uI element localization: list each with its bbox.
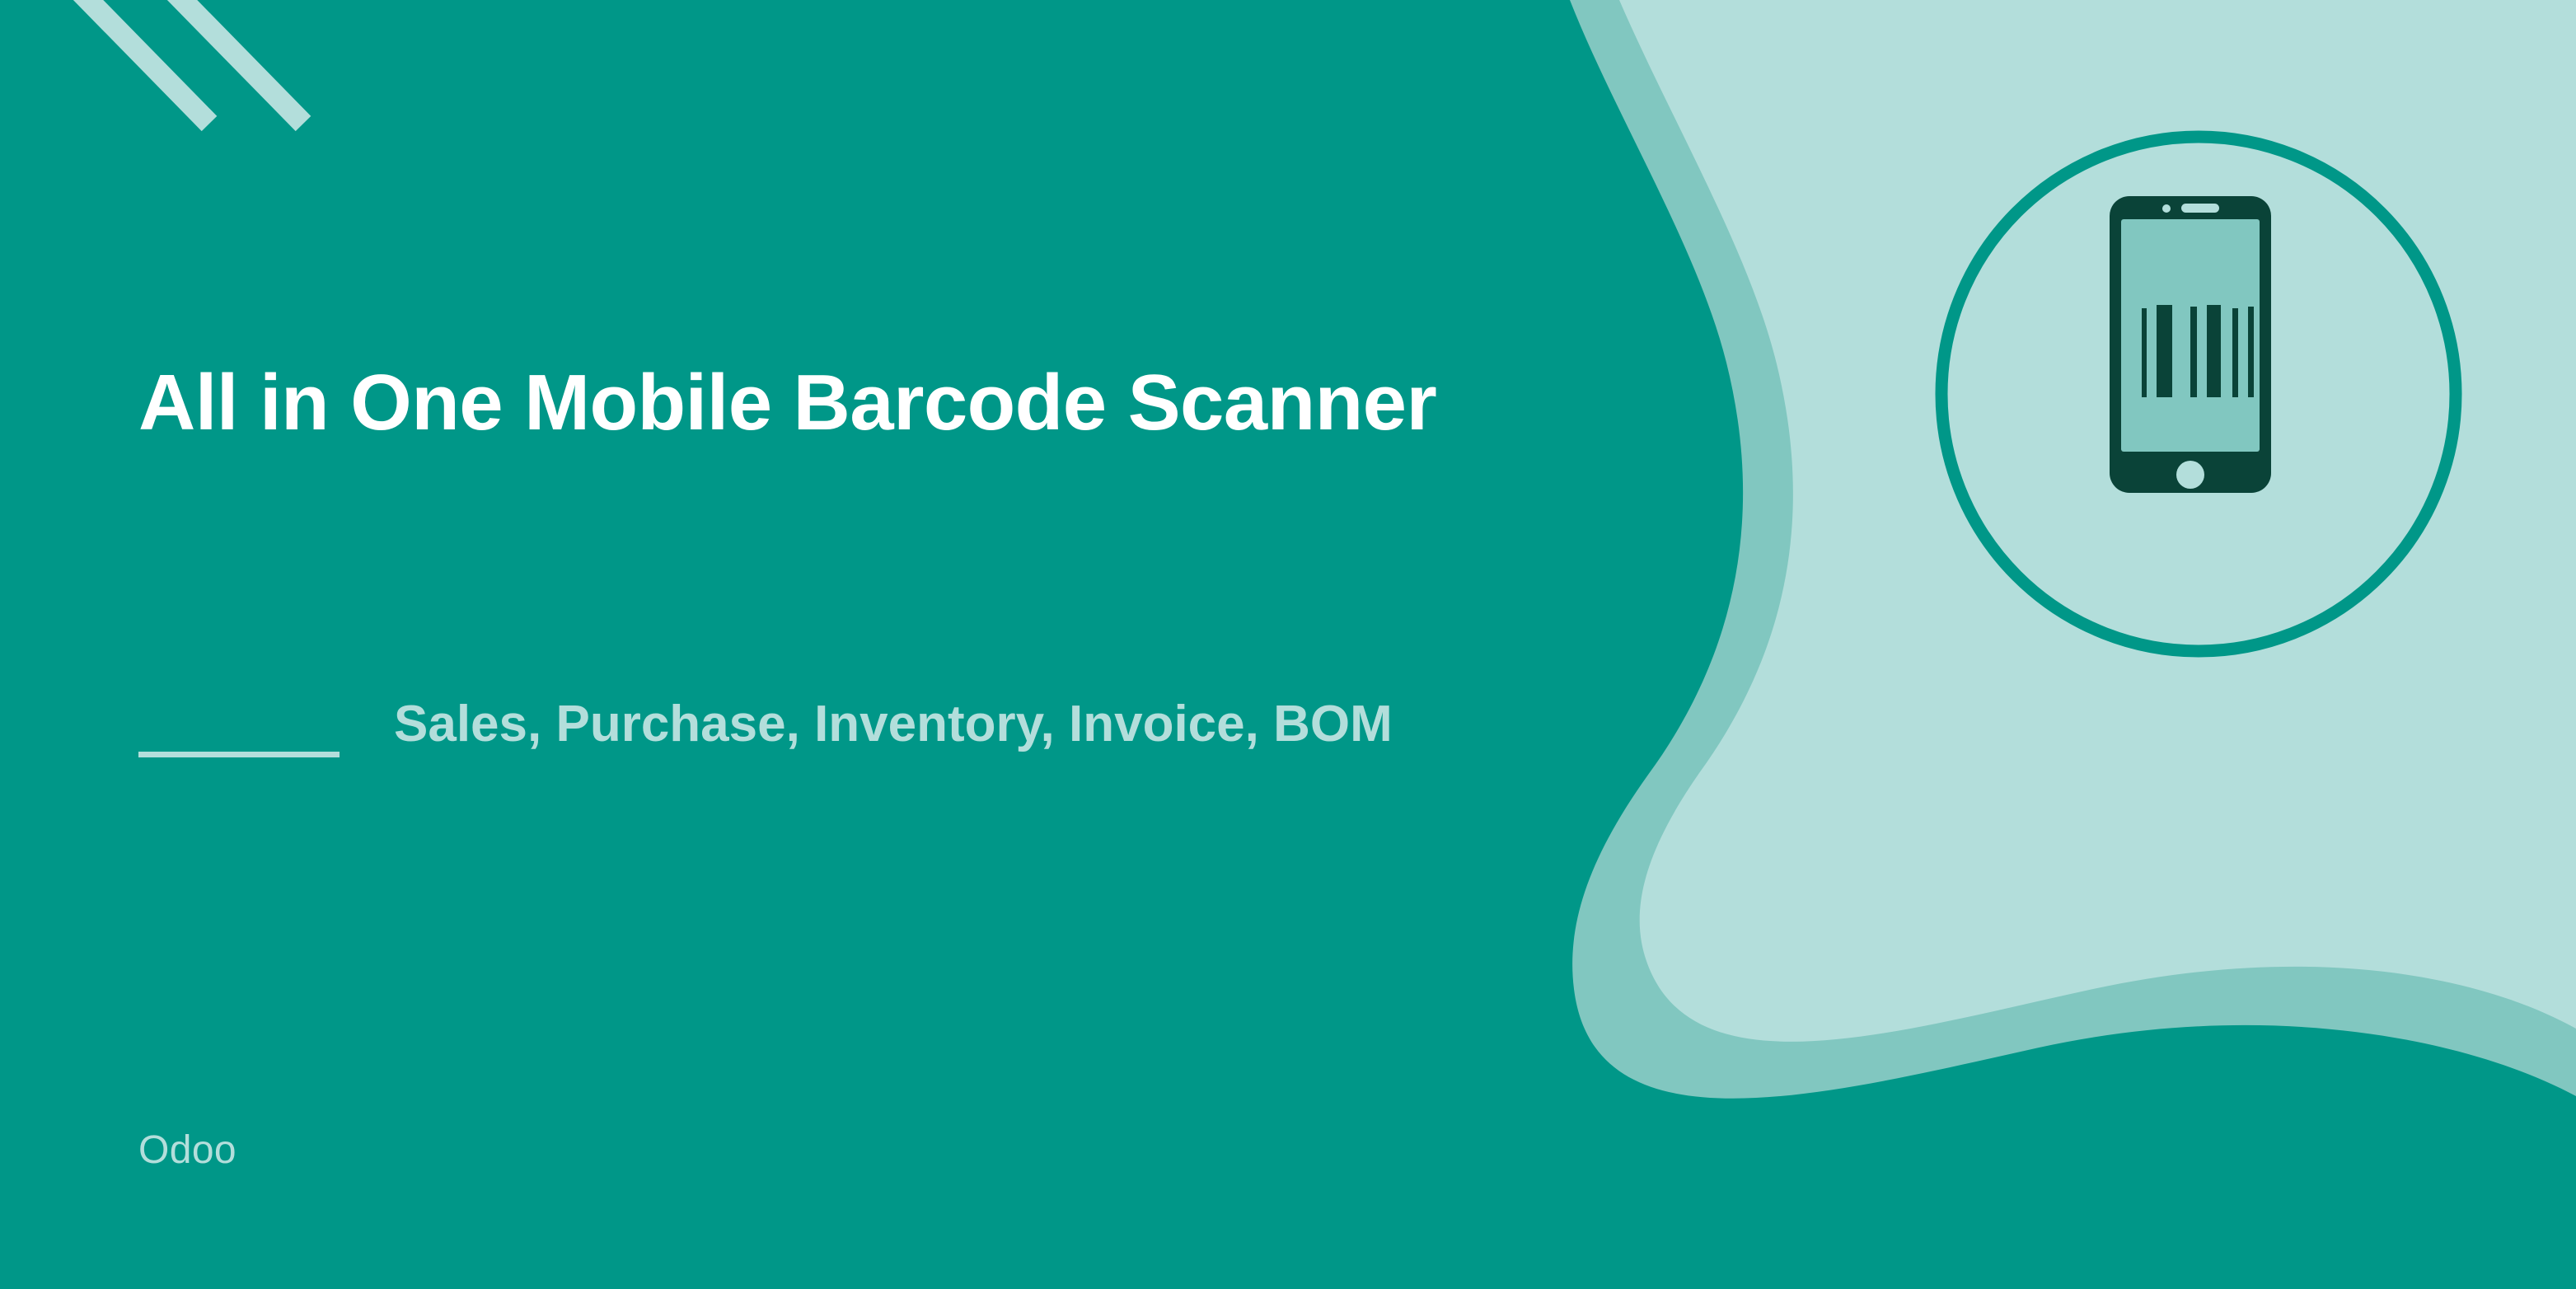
page-title: All in One Mobile Barcode Scanner [138,356,1704,449]
phone-home-button-icon [2176,461,2204,489]
phone-speaker-icon [2181,204,2219,213]
text-content-block: All in One Mobile Barcode Scanner Sales,… [138,0,1729,1289]
barcode-bar [2157,305,2172,397]
phone-camera-dot-icon [2162,204,2171,213]
barcode-bar [2190,307,2197,397]
slide-canvas: All in One Mobile Barcode Scanner Sales,… [0,0,2576,1289]
barcode-bar [2207,305,2221,397]
barcode-bar [2232,308,2238,397]
mobile-barcode-scanner-icon [1927,122,2471,666]
page-subtitle: Sales, Purchase, Inventory, Invoice, BOM [340,692,1393,757]
subtitle-row: Sales, Purchase, Inventory, Invoice, BOM [138,692,1704,757]
brand-label: Odoo [138,1127,237,1173]
barcode-bar [2142,308,2147,397]
subtitle-divider-rule [138,752,340,757]
barcode-bar [2248,307,2254,397]
